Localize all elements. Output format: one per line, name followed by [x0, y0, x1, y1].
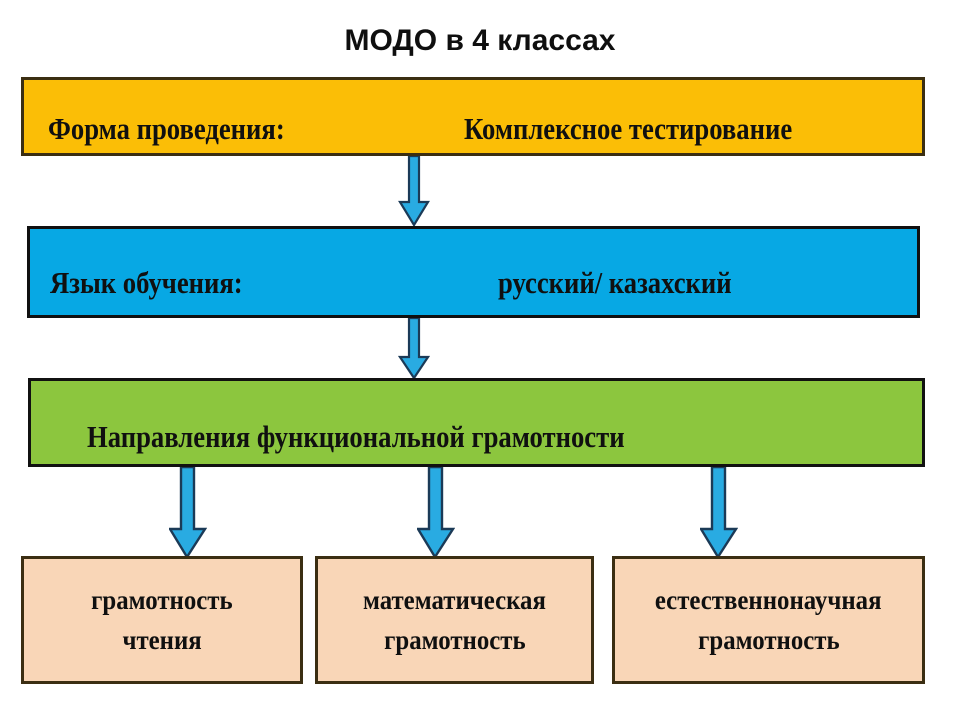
language-of-instruction-value: русский/ казахский: [498, 265, 732, 301]
language-of-instruction-label: Язык обучения:: [50, 265, 243, 301]
form-of-conduct-box: Форма проведения: Комплексное тестирован…: [21, 77, 925, 156]
language-of-instruction-box: Язык обучения: русский/ казахский: [27, 226, 920, 318]
arrow-directions-to-math: [417, 467, 455, 559]
arrow-language-to-directions: [398, 318, 430, 380]
arrow-directions-to-reading: [169, 467, 207, 559]
reading-literacy-box: грамотность чтения: [21, 556, 303, 684]
directions-value: Направления функциональной грамотности: [87, 419, 625, 455]
reading-literacy-line-1: грамотность: [91, 580, 233, 620]
math-literacy-box: математическая грамотность: [315, 556, 594, 684]
math-literacy-line-2: грамотность: [384, 620, 526, 660]
directions-box: Направления функциональной грамотности: [28, 378, 925, 467]
reading-literacy-line-2: чтения: [122, 620, 201, 660]
math-literacy-line-1: математическая: [363, 580, 546, 620]
page-title: МОДО в 4 классах: [0, 24, 960, 58]
form-of-conduct-value: Комплексное тестирование: [464, 111, 792, 147]
science-literacy-line-2: грамотность: [698, 620, 840, 660]
form-of-conduct-label: Форма проведения:: [48, 111, 285, 147]
slide-canvas: МОДО в 4 классах Форма проведения: Компл…: [0, 0, 960, 720]
science-literacy-box: естественнонаучная грамотность: [612, 556, 925, 684]
arrow-form-to-language: [398, 156, 430, 227]
science-literacy-line-1: естественнонаучная: [655, 580, 882, 620]
arrow-directions-to-science: [700, 467, 738, 559]
